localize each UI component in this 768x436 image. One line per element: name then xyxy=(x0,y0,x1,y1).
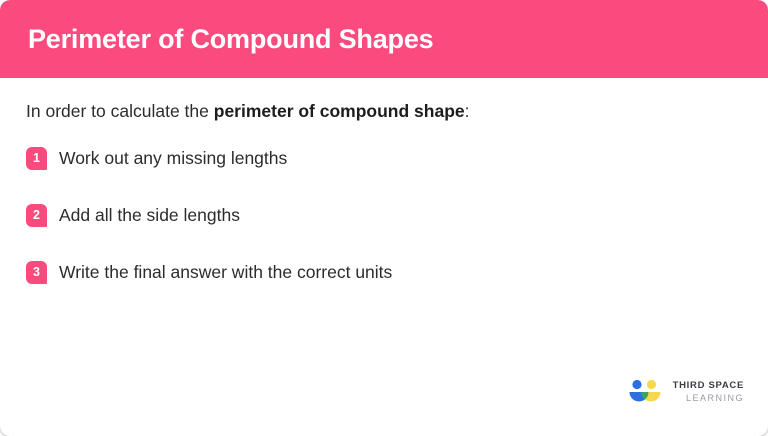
logo-wordmark: THIRD SPACE LEARNING xyxy=(673,381,744,403)
intro-prefix: In order to calculate the xyxy=(26,101,214,121)
step-label: Add all the side lengths xyxy=(59,204,240,227)
list-item: 3 Write the final answer with the correc… xyxy=(26,251,740,295)
intro-sentence: In order to calculate the perimeter of c… xyxy=(26,100,740,124)
step-number-badge: 3 xyxy=(26,261,47,284)
step-label: Work out any missing lengths xyxy=(59,147,287,170)
page-title: Perimeter of Compound Shapes xyxy=(28,26,433,53)
list-item: 2 Add all the side lengths xyxy=(26,194,740,238)
intro-suffix: : xyxy=(465,101,470,121)
intro-bold-phrase: perimeter of compound shape xyxy=(214,101,465,121)
step-label: Write the final answer with the correct … xyxy=(59,261,392,284)
step-number-badge: 2 xyxy=(26,204,47,227)
logo-name-bottom: LEARNING xyxy=(673,394,744,403)
logo-name-top: THIRD SPACE xyxy=(673,381,744,391)
third-space-learning-mark-icon xyxy=(626,378,664,406)
header-banner: Perimeter of Compound Shapes xyxy=(0,0,768,78)
steps-list: 1 Work out any missing lengths 2 Add all… xyxy=(26,137,740,295)
slide-canvas: Perimeter of Compound Shapes In order to… xyxy=(0,0,768,436)
step-number-badge: 1 xyxy=(26,147,47,170)
brand-logo: THIRD SPACE LEARNING xyxy=(626,378,744,406)
list-item: 1 Work out any missing lengths xyxy=(26,137,740,181)
